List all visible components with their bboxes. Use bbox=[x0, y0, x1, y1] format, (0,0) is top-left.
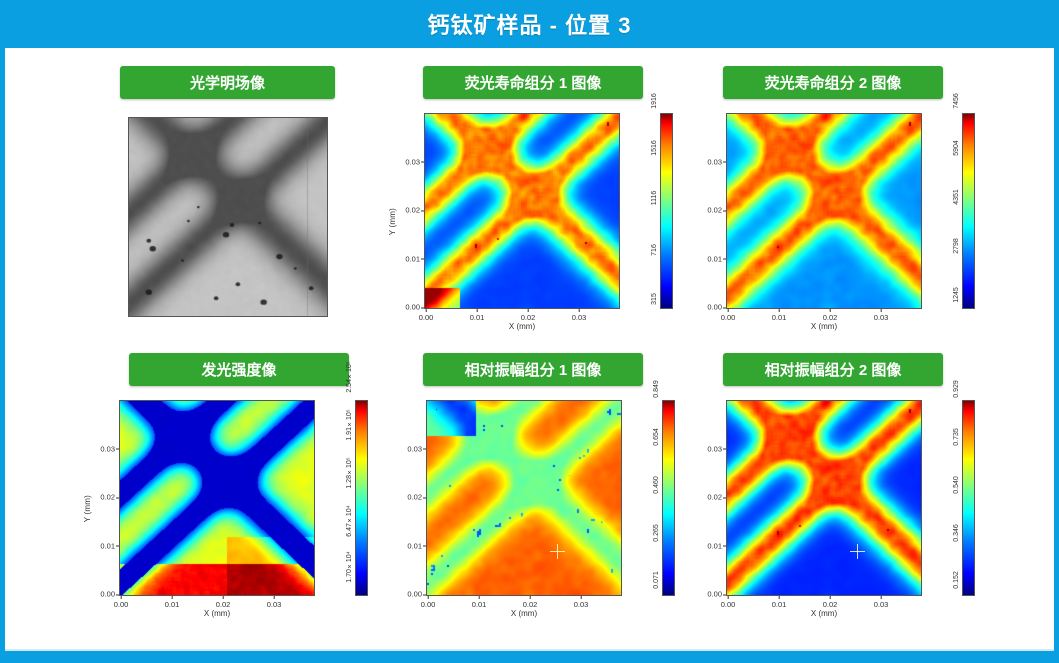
image-flim-component-1[interactable] bbox=[424, 113, 620, 309]
panel-title-relative-amplitude-1: 相对振幅组分 1 图像 bbox=[423, 353, 643, 386]
panel-flim-component-2[interactable]: 荧光寿命组分 2 图像 0.00 0.01 0.02 0.03 bbox=[688, 66, 978, 331]
x-tick: 0.00 bbox=[421, 600, 436, 609]
flim-component-1-canvas bbox=[425, 114, 619, 308]
y-tick: 0.03 bbox=[707, 157, 722, 166]
panel-title-flim-component-2: 荧光寿命组分 2 图像 bbox=[723, 66, 943, 99]
colorbar-tick: 1.70×10⁴ bbox=[346, 551, 353, 582]
colorbar-tick: 7456 bbox=[953, 94, 960, 110]
relative-amplitude-1-canvas bbox=[427, 401, 621, 595]
y-tick: 0.00 bbox=[405, 303, 420, 312]
app-root: 钙钛矿样品 - 位置 3 光学明场像 荧光寿命组分 1 图像 bbox=[0, 0, 1059, 663]
y-tick: 0.02 bbox=[707, 493, 722, 502]
panel-title-relative-amplitude-2: 相对振幅组分 2 图像 bbox=[723, 353, 943, 386]
colorbar-relative-amplitude-2: 0.152 0.346 0.540 0.735 0.929 bbox=[928, 400, 975, 596]
frame-border-right bbox=[1054, 48, 1059, 663]
y-axis-ticks-amp2: 0.00 0.01 0.02 0.03 bbox=[700, 400, 726, 594]
colorbar-tick: 1245 bbox=[953, 288, 960, 304]
colorbar-tick: 1916 bbox=[651, 94, 658, 110]
x-tick: 0.03 bbox=[572, 313, 587, 322]
y-tick: 0.03 bbox=[405, 157, 420, 166]
colorbar-tick: 716 bbox=[651, 244, 658, 256]
x-tick: 0.02 bbox=[216, 600, 231, 609]
optical-brightfield-canvas bbox=[129, 118, 327, 316]
colorbar-tick: 315 bbox=[651, 293, 658, 305]
y-tick: 0.01 bbox=[100, 541, 115, 550]
colorbar-relative-amplitude-1: 0.071 0.265 0.460 0.654 0.849 bbox=[628, 400, 675, 596]
colorbar-flim-component-1: 315 716 1116 1516 1916 bbox=[626, 113, 673, 309]
panel-grid: 光学明场像 荧光寿命组分 1 图像 Y (mm) 0.00 bbox=[5, 48, 1054, 651]
x-tick: 0.01 bbox=[772, 600, 787, 609]
colorbar-tick: 5904 bbox=[953, 141, 960, 157]
colorbar-ticks-flim1: 315 716 1116 1516 1916 bbox=[626, 113, 660, 309]
colorbar-tick: 0.346 bbox=[953, 525, 960, 543]
x-axis-label: X (mm) bbox=[426, 609, 622, 618]
x-tick: 0.02 bbox=[823, 313, 838, 322]
x-tick: 0.03 bbox=[874, 313, 889, 322]
y-axis-ticks-flim2: 0.00 0.01 0.02 0.03 bbox=[700, 113, 726, 307]
x-tick: 0.00 bbox=[721, 313, 736, 322]
panel-luminescence-intensity[interactable]: 发光强度像 Y (mm) 0.00 0.01 0.02 0.03 bbox=[83, 353, 373, 618]
y-axis-ticks-amp1: 0.00 0.01 0.02 0.03 bbox=[400, 400, 426, 594]
y-tick: 0.01 bbox=[707, 254, 722, 263]
x-axis-amp1: 0.00 0.01 0.02 0.03 X (mm) bbox=[426, 596, 622, 618]
colorbar-tick: 1.91×10⁵ bbox=[346, 409, 353, 440]
colorbar-luminescence-intensity: 1.70×10⁴ 6.47×10⁴ 1.28×10⁵ 1.91×10⁵ 2.54… bbox=[321, 400, 368, 596]
colorbar-gradient-flim2 bbox=[962, 113, 975, 309]
colorbar-tick: 4351 bbox=[953, 190, 960, 206]
x-tick: 0.03 bbox=[267, 600, 282, 609]
panel-title-luminescence-intensity: 发光强度像 bbox=[129, 353, 349, 386]
x-axis-label: X (mm) bbox=[424, 322, 620, 331]
frame-border-bottom bbox=[0, 651, 1059, 663]
colorbar-tick: 2798 bbox=[953, 239, 960, 255]
image-luminescence-intensity[interactable] bbox=[119, 400, 315, 596]
panel-flim-component-1[interactable]: 荧光寿命组分 1 图像 Y (mm) 0.00 0.01 0.02 0.03 bbox=[388, 66, 678, 331]
colorbar-tick: 0.152 bbox=[953, 572, 960, 590]
x-axis-flim2: 0.00 0.01 0.02 0.03 X (mm) bbox=[726, 309, 922, 331]
colorbar-gradient-amp1 bbox=[662, 400, 675, 596]
y-axis-label: Y (mm) bbox=[388, 208, 397, 235]
y-tick: 0.03 bbox=[707, 444, 722, 453]
x-tick: 0.02 bbox=[523, 600, 538, 609]
y-tick: 0.02 bbox=[707, 206, 722, 215]
colorbar-tick: 0.460 bbox=[653, 477, 660, 495]
colorbar-tick: 1516 bbox=[651, 141, 658, 157]
colorbar-ticks-amp2: 0.152 0.346 0.540 0.735 0.929 bbox=[928, 400, 962, 596]
y-axis-ticks-lum: 0.00 0.01 0.02 0.03 bbox=[93, 400, 119, 594]
relative-amplitude-2-canvas bbox=[727, 401, 921, 595]
y-tick: 0.01 bbox=[405, 254, 420, 263]
x-tick: 0.03 bbox=[874, 600, 889, 609]
x-tick: 0.02 bbox=[521, 313, 536, 322]
panel-title-flim-component-1: 荧光寿命组分 1 图像 bbox=[423, 66, 643, 99]
y-axis-label: Y (mm) bbox=[83, 495, 92, 522]
colorbar-gradient-lum bbox=[355, 400, 368, 596]
flim-component-2-canvas bbox=[727, 114, 921, 308]
y-tick: 0.03 bbox=[407, 444, 422, 453]
x-tick: 0.00 bbox=[114, 600, 129, 609]
colorbar-flim-component-2: 1245 2798 4351 5904 7456 bbox=[928, 113, 975, 309]
image-relative-amplitude-1[interactable] bbox=[426, 400, 622, 596]
colorbar-tick: 2.54×10⁵ bbox=[346, 361, 353, 392]
x-tick: 0.00 bbox=[419, 313, 434, 322]
x-tick: 0.01 bbox=[472, 600, 487, 609]
x-axis-lum: 0.00 0.01 0.02 0.03 X (mm) bbox=[119, 596, 315, 618]
colorbar-tick: 0.735 bbox=[953, 429, 960, 447]
y-tick: 0.01 bbox=[707, 541, 722, 550]
colorbar-tick: 1.28×10⁵ bbox=[346, 457, 353, 488]
y-tick: 0.02 bbox=[100, 493, 115, 502]
panel-optical-brightfield[interactable]: 光学明场像 bbox=[100, 66, 355, 317]
y-tick: 0.00 bbox=[407, 590, 422, 599]
y-tick: 0.02 bbox=[405, 206, 420, 215]
colorbar-tick: 0.540 bbox=[953, 477, 960, 495]
x-axis-label: X (mm) bbox=[119, 609, 315, 618]
page-title: 钙钛矿样品 - 位置 3 bbox=[428, 8, 632, 40]
colorbar-tick: 0.071 bbox=[653, 572, 660, 590]
panel-relative-amplitude-1[interactable]: 相对振幅组分 1 图像 0.00 0.01 0.02 0.03 bbox=[388, 353, 678, 618]
x-axis-label: X (mm) bbox=[726, 609, 922, 618]
y-tick: 0.00 bbox=[707, 303, 722, 312]
x-axis-label: X (mm) bbox=[726, 322, 922, 331]
colorbar-tick: 0.265 bbox=[653, 525, 660, 543]
colorbar-tick: 6.47×10⁴ bbox=[346, 505, 353, 536]
y-axis-ticks-flim1: 0.00 0.01 0.02 0.03 bbox=[398, 113, 424, 307]
y-tick: 0.01 bbox=[407, 541, 422, 550]
x-tick: 0.01 bbox=[470, 313, 485, 322]
y-tick: 0.02 bbox=[407, 493, 422, 502]
x-tick: 0.03 bbox=[574, 600, 589, 609]
x-tick: 0.02 bbox=[823, 600, 838, 609]
colorbar-tick: 1116 bbox=[651, 191, 658, 206]
colorbar-tick: 0.654 bbox=[653, 429, 660, 447]
window-header: 钙钛矿样品 - 位置 3 bbox=[0, 0, 1059, 48]
y-tick: 0.00 bbox=[707, 590, 722, 599]
y-tick: 0.03 bbox=[100, 444, 115, 453]
colorbar-ticks-lum: 1.70×10⁴ 6.47×10⁴ 1.28×10⁵ 1.91×10⁵ 2.54… bbox=[321, 400, 355, 596]
colorbar-ticks-flim2: 1245 2798 4351 5904 7456 bbox=[928, 113, 962, 309]
colorbar-tick: 0.849 bbox=[653, 381, 660, 399]
y-tick: 0.00 bbox=[100, 590, 115, 599]
image-flim-component-2[interactable] bbox=[726, 113, 922, 309]
colorbar-ticks-amp1: 0.071 0.265 0.460 0.654 0.849 bbox=[628, 400, 662, 596]
panel-title-optical-brightfield: 光学明场像 bbox=[120, 66, 335, 99]
image-relative-amplitude-2[interactable] bbox=[726, 400, 922, 596]
luminescence-intensity-canvas bbox=[120, 401, 314, 595]
panel-relative-amplitude-2[interactable]: 相对振幅组分 2 图像 0.00 0.01 0.02 0.03 bbox=[688, 353, 978, 618]
colorbar-gradient-amp2 bbox=[962, 400, 975, 596]
x-axis-flim1: 0.00 0.01 0.02 0.03 X (mm) bbox=[424, 309, 620, 331]
x-tick: 0.00 bbox=[721, 600, 736, 609]
image-optical-brightfield[interactable] bbox=[128, 117, 328, 317]
colorbar-tick: 0.929 bbox=[953, 381, 960, 399]
x-axis-amp2: 0.00 0.01 0.02 0.03 X (mm) bbox=[726, 596, 922, 618]
x-tick: 0.01 bbox=[165, 600, 180, 609]
colorbar-gradient-flim1 bbox=[660, 113, 673, 309]
x-tick: 0.01 bbox=[772, 313, 787, 322]
